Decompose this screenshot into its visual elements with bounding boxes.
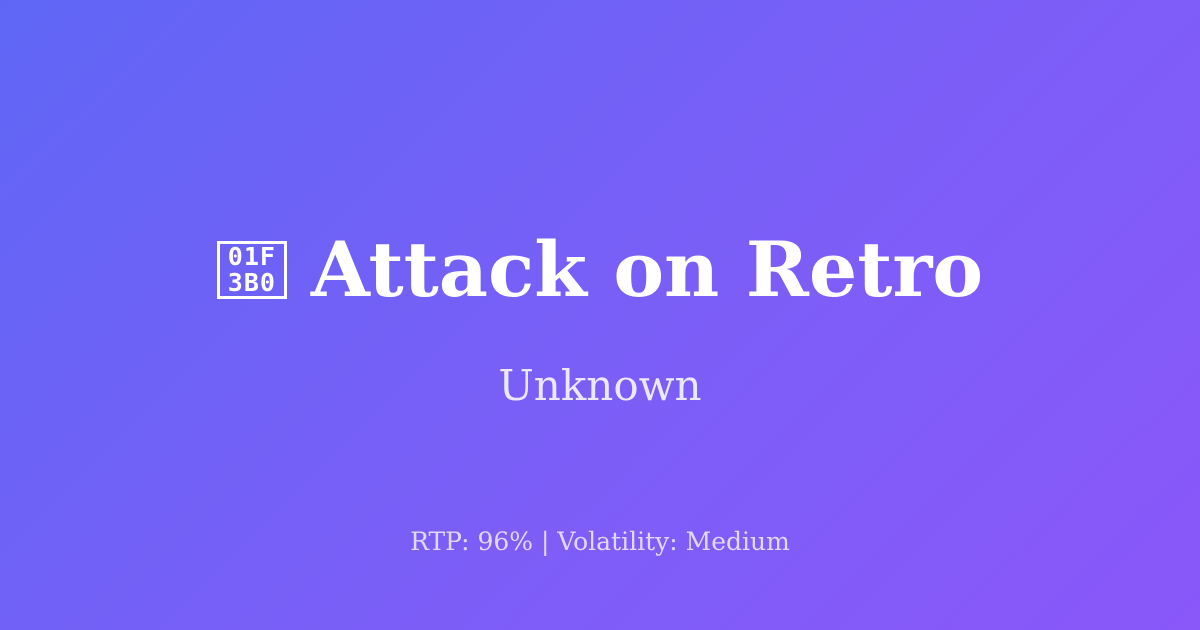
slot-machine-icon: 01F 3B0 [217, 241, 287, 299]
tofu-codepoint-bottom: 3B0 [228, 270, 276, 296]
tofu-codepoint-top: 01F [228, 244, 276, 270]
page-title: Attack on Retro [311, 232, 983, 308]
og-share-card: 01F 3B0 Attack on Retro Unknown RTP: 96%… [0, 0, 1200, 630]
provider-subtitle: Unknown [0, 362, 1200, 410]
game-stats-line: RTP: 96% | Volatility: Medium [0, 526, 1200, 559]
title-row: 01F 3B0 Attack on Retro [0, 232, 1200, 308]
